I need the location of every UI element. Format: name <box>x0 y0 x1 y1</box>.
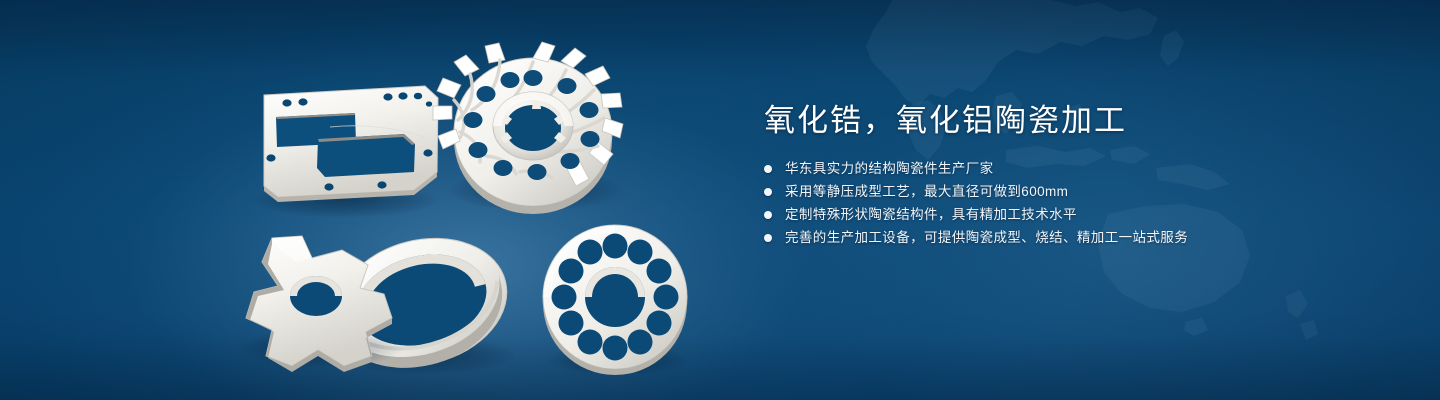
banner-copy: 氧化锆，氧化铝陶瓷加工 华东具实力的结构陶瓷件生产厂家 采用等静压成型工艺，最大… <box>764 104 1384 252</box>
product-photo-group <box>0 0 740 400</box>
feature-item-3-label: 定制特殊形状陶瓷结构件，具有精加工技术水平 <box>785 206 1077 224</box>
product-ceramic-perforated-disc <box>543 225 690 376</box>
feature-item-1-label: 华东具实力的结构陶瓷件生产厂家 <box>785 160 994 178</box>
feature-item-1: 华东具实力的结构陶瓷件生产厂家 <box>764 160 1384 178</box>
feature-list: 华东具实力的结构陶瓷件生产厂家 采用等静压成型工艺，最大直径可做到600mm 定… <box>764 160 1384 247</box>
bullet-dot-icon <box>764 188 772 196</box>
product-ceramic-plate <box>250 86 440 218</box>
banner-headline: 氧化锆，氧化铝陶瓷加工 <box>764 104 1384 138</box>
product-ceramic-impeller <box>433 42 625 214</box>
feature-item-3: 定制特殊形状陶瓷结构件，具有精加工技术水平 <box>764 206 1384 224</box>
hero-banner: 氧化锆，氧化铝陶瓷加工 华东具实力的结构陶瓷件生产厂家 采用等静压成型工艺，最大… <box>0 0 1440 400</box>
feature-item-4: 完善的生产加工设备，可提供陶瓷成型、烧结、精加工一站式服务 <box>764 229 1384 247</box>
feature-item-4-label: 完善的生产加工设备，可提供陶瓷成型、烧结、精加工一站式服务 <box>785 229 1188 247</box>
feature-item-2-label: 采用等静压成型工艺，最大直径可做到600mm <box>785 183 1068 201</box>
bullet-dot-icon <box>764 165 772 173</box>
bullet-dot-icon <box>764 234 772 242</box>
bullet-dot-icon <box>764 211 772 219</box>
feature-item-2: 采用等静压成型工艺，最大直径可做到600mm <box>764 183 1384 201</box>
